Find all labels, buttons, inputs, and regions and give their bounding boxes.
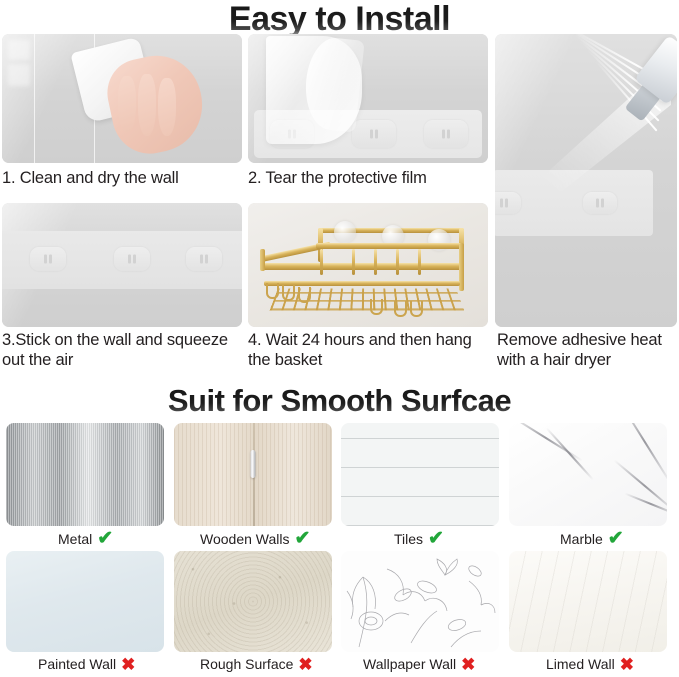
finger	[118, 76, 136, 132]
label-painted-wall: Painted Wall ✖	[38, 655, 135, 673]
pad-slots	[596, 199, 604, 208]
window-reflection	[8, 40, 30, 60]
basket-side-frame	[260, 249, 265, 271]
basket-front-rail	[260, 263, 464, 270]
botanical-line-art	[341, 551, 499, 652]
check-icon: ✔	[428, 529, 444, 548]
step-1-caption-text: 1. Clean and dry the wall	[2, 169, 179, 187]
step-5-caption: Remove adhesive heat with a hair dryer	[497, 330, 679, 370]
basket-rib	[418, 249, 421, 275]
step-2-image	[248, 34, 488, 163]
mounting-disc	[334, 221, 356, 243]
swatch-marble	[509, 423, 667, 526]
marble-vein	[546, 427, 594, 480]
label-limed-wall: Limed Wall ✖	[546, 655, 634, 673]
swatch-rough-surface	[174, 551, 332, 652]
pad-slots	[44, 255, 52, 264]
label-wooden-walls-text: Wooden Walls	[200, 530, 289, 548]
swatch-limed-wall	[509, 551, 667, 652]
basket-hook	[370, 299, 383, 315]
infographic-sheet: Easy to Install 1. Clean and dry the wal…	[0, 0, 679, 677]
basket-rib	[374, 249, 377, 275]
adhesive-pad	[30, 247, 66, 271]
label-limed-wall-text: Limed Wall	[546, 655, 615, 673]
marble-vein	[625, 493, 667, 515]
basket-rib	[320, 249, 323, 275]
label-rough-surface-text: Rough Surface	[200, 655, 293, 673]
step-1-image	[2, 34, 242, 163]
swatch-wallpaper-wall	[341, 551, 499, 652]
pad-slots	[370, 130, 378, 139]
label-marble-text: Marble	[560, 530, 603, 548]
basket-hook	[282, 285, 295, 301]
basket-rib	[352, 249, 355, 275]
swatch-wooden-walls	[174, 423, 332, 526]
basket-top-frame	[316, 243, 464, 249]
label-wooden-walls: Wooden Walls ✔	[200, 529, 310, 548]
cabinet-handle	[251, 450, 256, 478]
page-title-surfaces: Suit for Smooth Surfcae	[0, 382, 679, 420]
step-4-caption: 4. Wait 24 hours and then hang the baske…	[248, 330, 484, 370]
label-rough-surface: Rough Surface ✖	[200, 655, 313, 673]
check-icon: ✔	[608, 529, 624, 548]
adhesive-pad	[424, 120, 468, 148]
pad-slots	[200, 255, 208, 264]
label-painted-wall-text: Painted Wall	[38, 655, 116, 673]
adhesive-pad	[583, 192, 617, 214]
step-3-caption: 3.Stick on the wall and squeeze out the …	[2, 330, 232, 370]
marble-vein	[614, 459, 667, 512]
cross-icon: ✖	[620, 656, 634, 673]
step-2-caption: 2. Tear the protective film	[248, 168, 488, 188]
step-4-image	[248, 203, 488, 327]
marble-vein	[619, 423, 667, 483]
step-3-caption-text: 3.Stick on the wall and squeeze out the …	[2, 331, 228, 369]
adhesive-pad	[186, 247, 222, 271]
pad-slots	[128, 255, 136, 264]
step-1-caption: 1. Clean and dry the wall	[2, 168, 242, 188]
label-wallpaper-wall: Wallpaper Wall ✖	[363, 655, 475, 673]
step-5-image	[495, 34, 677, 327]
label-wallpaper-wall-text: Wallpaper Wall	[363, 655, 456, 673]
label-tiles-text: Tiles	[394, 530, 423, 548]
finger	[138, 74, 156, 136]
basket-hook	[394, 301, 407, 317]
swatch-metal	[6, 423, 164, 526]
swatch-painted-wall	[6, 551, 164, 652]
basket-hook	[410, 301, 423, 317]
step-2-caption-text: 2. Tear the protective film	[248, 169, 427, 187]
pad-slots	[442, 130, 450, 139]
label-marble: Marble ✔	[560, 529, 624, 548]
step-5-caption-text: Remove adhesive heat with a hair dryer	[497, 331, 662, 369]
step-3-image	[2, 203, 242, 327]
label-metal-text: Metal	[58, 530, 92, 548]
check-icon: ✔	[294, 529, 310, 548]
swatch-tiles	[341, 423, 499, 526]
basket-rib	[396, 249, 399, 275]
adhesive-pad	[114, 247, 150, 271]
adhesive-pad	[495, 192, 521, 214]
step-4-caption-text: 4. Wait 24 hours and then hang the baske…	[248, 331, 472, 369]
window-reflection	[8, 64, 30, 86]
pad-slots	[500, 199, 508, 208]
label-metal: Metal ✔	[58, 529, 113, 548]
cross-icon: ✖	[461, 656, 475, 673]
basket-hook	[298, 287, 311, 303]
heading-surfaces-text: Suit for Smooth Surfcae	[168, 382, 511, 420]
adhesive-pad	[352, 120, 396, 148]
check-icon: ✔	[97, 529, 113, 548]
basket-hook	[266, 283, 279, 299]
finger	[158, 78, 176, 136]
wall-seam	[34, 34, 35, 163]
label-tiles: Tiles ✔	[394, 529, 444, 548]
cross-icon: ✖	[121, 656, 135, 673]
cross-icon: ✖	[298, 656, 312, 673]
